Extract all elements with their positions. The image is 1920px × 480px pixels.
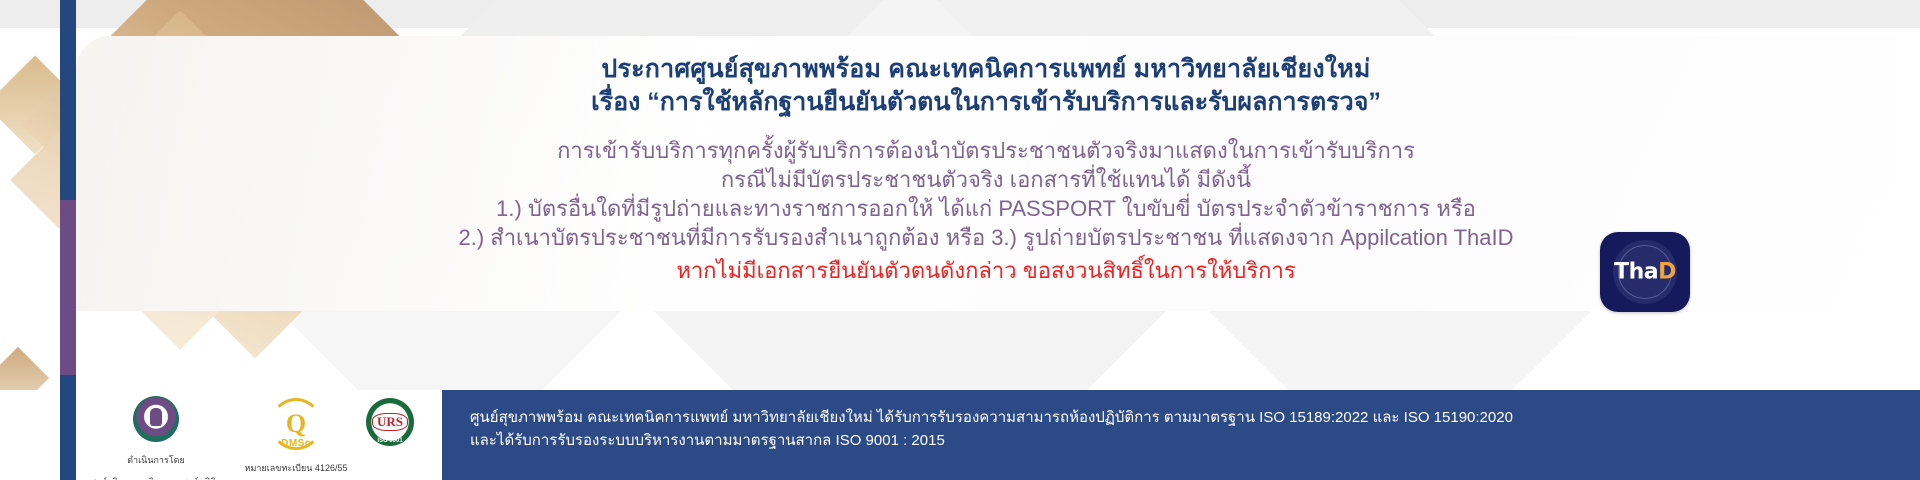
dmsc-caption-line1: หมายเลขทะเบียน 4126/55 xyxy=(245,463,348,473)
footer-accreditation-text: ศูนย์สุขภาพพร้อม คณะเทคนิคการแพทย์ มหาวิ… xyxy=(470,406,1890,452)
left-rail-blue-top xyxy=(60,0,76,200)
footer-text-line2: และได้รับการรับรองระบบบริหารงานตามมาตรฐา… xyxy=(470,429,1890,452)
dmsc-seal-icon: Q DMSc xyxy=(270,398,322,450)
body-line-1: การเข้ารับบริการทุกครั้งผู้รับบริการต้อง… xyxy=(76,136,1896,165)
footer-left-rail xyxy=(60,390,76,480)
mt-clinic-logo: ดำเนินการโดย ศูนย์บริการเทคนิคการแพทย์คล… xyxy=(76,396,236,480)
thaid-icon-background: ThaD xyxy=(1600,232,1690,312)
footer-bar: ดำเนินการโดย ศูนย์บริการเทคนิคการแพทย์คล… xyxy=(0,390,1920,480)
thaid-wordmark-d: D xyxy=(1658,260,1676,285)
urs-iso-mark: ISO 9001 xyxy=(366,438,414,444)
dmsc-caption: หมายเลขทะเบียน 4126/55 xyxy=(226,452,366,474)
dmsc-q-mark: Q xyxy=(286,411,306,437)
urs-seal-icon: URS ISO 9001 xyxy=(366,398,414,446)
announcement-title-line2: เรื่อง “การใช้หลักฐานยืนยันตัวตนในการเข้… xyxy=(76,85,1896,118)
dmsc-sub-mark: DMSc xyxy=(273,438,319,449)
mt-clinic-caption-line1: ดำเนินการโดย xyxy=(127,455,185,465)
accreditation-logos: ดำเนินการโดย ศูนย์บริการเทคนิคการแพทย์คล… xyxy=(76,392,436,480)
mt-clinic-caption: ดำเนินการโดย ศูนย์บริการเทคนิคการแพทย์คล… xyxy=(76,444,236,480)
thaid-app-icon: ThaD xyxy=(1600,232,1690,312)
mt-clinic-seal-icon xyxy=(133,396,179,442)
thaid-wordmark: ThaD xyxy=(1600,260,1690,285)
urs-mark: URS xyxy=(372,413,408,431)
body-line-2: กรณีไม่มีบัตรประชาชนตัวจริง เอกสารที่ใช้… xyxy=(76,165,1896,194)
thaid-wordmark-thai: Tha xyxy=(1614,260,1658,285)
body-line-3: 1.) บัตรอื่นใดที่มีรูปถ่ายและทางราชการออ… xyxy=(76,194,1896,223)
announcement-banner: ประกาศศูนย์สุขภาพพร้อม คณะเทคนิคการแพทย์… xyxy=(0,0,1920,480)
left-rail-purple xyxy=(60,200,76,375)
announcement-title-line1: ประกาศศูนย์สุขภาพพร้อม คณะเทคนิคการแพทย์… xyxy=(76,36,1896,85)
urs-logo: URS ISO 9001 xyxy=(344,398,436,446)
footer-text-line1: ศูนย์สุขภาพพร้อม คณะเทคนิคการแพทย์ มหาวิ… xyxy=(470,406,1890,429)
